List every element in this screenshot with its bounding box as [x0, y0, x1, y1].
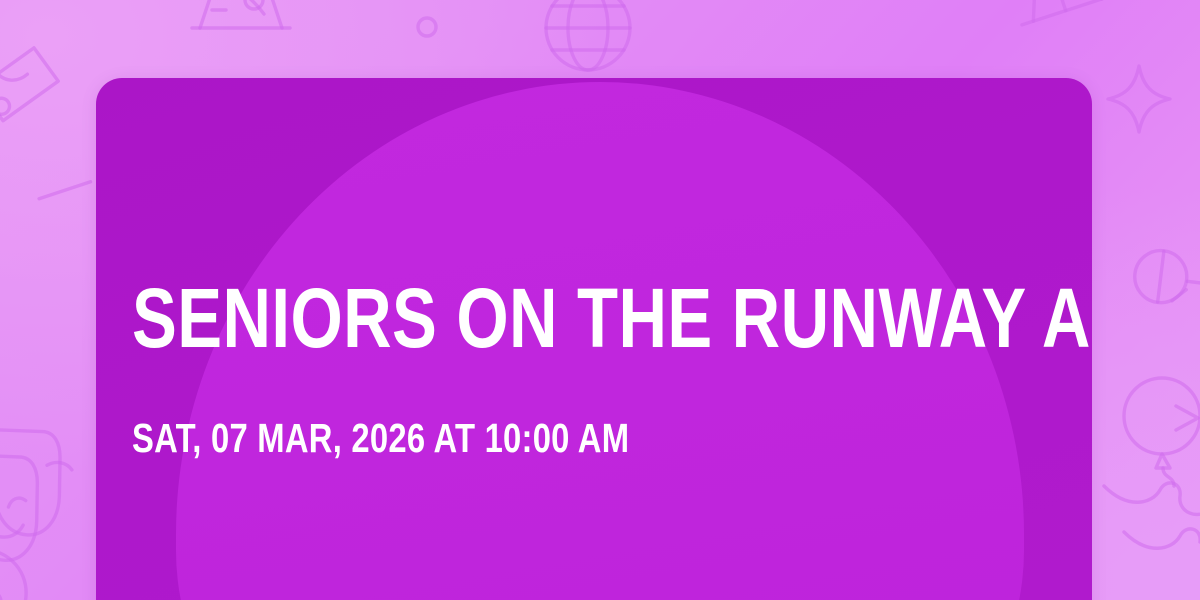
event-datetime: Sat, 07 Mar, 2026 at 10:00 AM [132, 414, 629, 462]
event-card-content: Seniors on the Runway Albany Sat, 07 Mar… [132, 78, 1056, 600]
event-card: Seniors on the Runway Albany Sat, 07 Mar… [96, 78, 1092, 600]
event-poster: Seniors on the Runway Albany Sat, 07 Mar… [0, 0, 1200, 600]
event-title: Seniors on the Runway Albany [132, 274, 1092, 362]
